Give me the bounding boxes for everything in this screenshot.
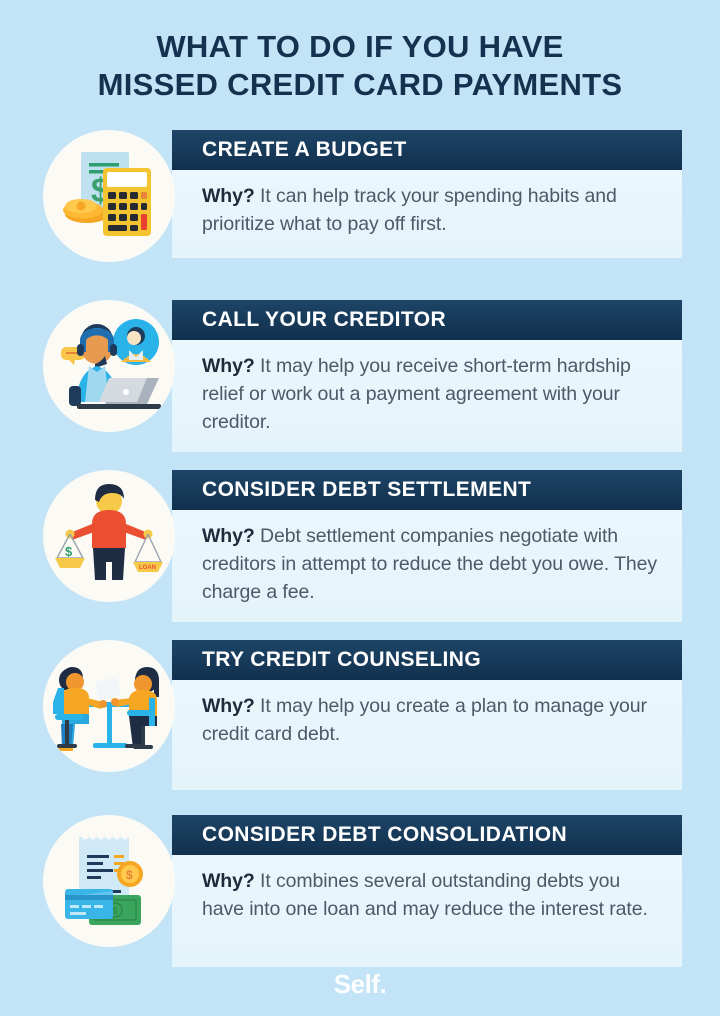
svg-text:$: $ [65,544,73,559]
section-body: Why? It may help you receive short-term … [172,340,682,452]
why-label: Why? [202,870,255,892]
section-call-your-creditor: CALL YOUR CREDITOR Why? It may help you … [0,294,720,464]
section-heading: CONSIDER DEBT SETTLEMENT [172,470,682,510]
why-text: It may help you create a plan to manage … [202,695,647,745]
section-consider-debt-settlement: $ LOAN CONSIDER DEBT SETTLEMENT Why? Deb… [0,464,720,634]
call-center-agent-icon [43,300,175,432]
why-label: Why? [202,525,255,547]
budget-calculator-icon: $ [43,130,175,262]
section-consider-debt-consolidation: $ $ CONSIDER DEBT CONSOLIDATION Why? I [0,809,720,979]
section-heading: CONSIDER DEBT CONSOLIDATION [172,815,682,855]
page-title: WHAT TO DO IF YOU HAVE MISSED CREDIT CAR… [0,0,720,104]
balance-scales-person-icon: $ LOAN [43,470,175,602]
creditor-panel: CALL YOUR CREDITOR Why? It may help you … [172,300,682,452]
section-heading: CREATE A BUDGET [172,130,682,170]
why-text: It may help you receive short-term hards… [202,355,631,433]
why-text: It can help track your spending habits a… [202,185,617,235]
why-text: Debt settlement companies negotiate with… [202,525,657,603]
bill-card-cash-icon: $ $ [43,815,175,947]
why-label: Why? [202,355,255,377]
two-people-meeting-icon [43,640,175,772]
section-list: $ [0,124,720,979]
footer: Self. [0,969,720,1000]
budget-panel: CREATE A BUDGET Why? It can help track y… [172,130,682,258]
svg-text:$: $ [126,868,133,882]
section-body: Why? Debt settlement companies negotiate… [172,510,682,622]
section-body: Why? It combines several outstanding deb… [172,855,682,967]
page-title-line-1: WHAT TO DO IF YOU HAVE [28,28,692,66]
section-body: Why? It may help you create a plan to ma… [172,680,682,790]
why-label: Why? [202,185,255,207]
why-text: It combines several outstanding debts yo… [202,870,648,920]
section-body: Why? It can help track your spending hab… [172,170,682,258]
page-title-line-2: MISSED CREDIT CARD PAYMENTS [28,66,692,104]
self-logo: Self. [334,969,386,1000]
why-label: Why? [202,695,255,717]
consolidation-panel: CONSIDER DEBT CONSOLIDATION Why? It comb… [172,815,682,967]
svg-text:LOAN: LOAN [139,565,156,571]
section-heading: CALL YOUR CREDITOR [172,300,682,340]
section-try-credit-counseling: TRY CREDIT COUNSELING Why? It may help y… [0,634,720,809]
section-heading: TRY CREDIT COUNSELING [172,640,682,680]
counseling-panel: TRY CREDIT COUNSELING Why? It may help y… [172,640,682,790]
settlement-panel: CONSIDER DEBT SETTLEMENT Why? Debt settl… [172,470,682,622]
section-create-a-budget: $ [0,124,720,294]
